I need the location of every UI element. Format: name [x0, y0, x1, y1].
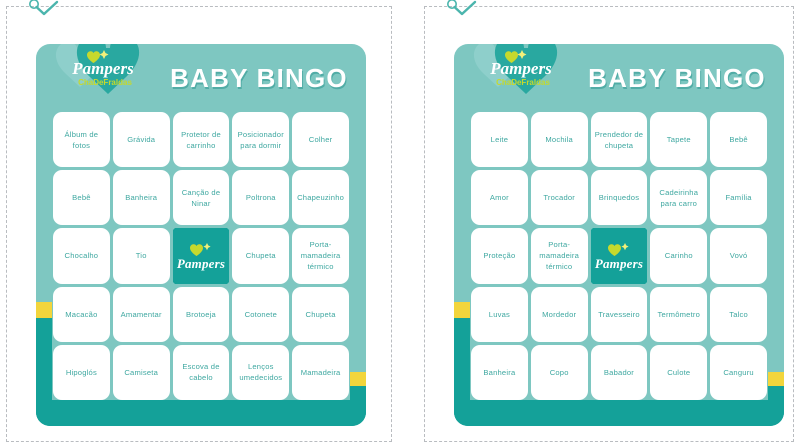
bingo-cell[interactable]: Porta-mamadeira térmico — [531, 228, 588, 283]
bingo-cell[interactable]: Cadeirinha para carro — [650, 170, 707, 225]
bingo-cell[interactable]: Chupeta — [232, 228, 289, 283]
card-header: Pampers ChaDeFraldas BABY BINGO — [454, 44, 784, 108]
bingo-cell[interactable]: Grávida — [113, 112, 170, 167]
bingo-cell[interactable]: Família — [710, 170, 767, 225]
pampers-logo: Pampers ChaDeFraldas — [48, 44, 156, 114]
card-bottom-band — [454, 400, 784, 426]
svg-text:ChaDeFraldas: ChaDeFraldas — [496, 78, 550, 87]
svg-text:Pampers: Pampers — [489, 59, 552, 78]
bingo-cell[interactable]: Canção de Ninar — [173, 170, 230, 225]
bingo-cell[interactable]: Banheira — [113, 170, 170, 225]
card-title: BABY BINGO — [578, 58, 776, 98]
card-header: Pampers ChaDeFraldas BABY BINGO — [36, 44, 366, 108]
bingo-cell[interactable]: Prendedor de chupeta — [591, 112, 648, 167]
bingo-cell[interactable]: Banheira — [471, 345, 528, 400]
card-right-band — [768, 382, 784, 426]
pampers-logo: Pampers ChaDeFraldas — [466, 44, 574, 114]
bingo-cell[interactable]: Mamadeira — [292, 345, 349, 400]
bingo-cell[interactable]: Babador — [591, 345, 648, 400]
bingo-grid: Leite Mochila Prendedor de chupeta Tapet… — [471, 112, 767, 400]
bingo-cell[interactable]: Travesseiro — [591, 287, 648, 342]
bingo-cell[interactable]: Leite — [471, 112, 528, 167]
bingo-cell[interactable]: Brinquedos — [591, 170, 648, 225]
svg-text:ChaDeFraldas: ChaDeFraldas — [78, 78, 132, 87]
bingo-cell[interactable]: Mordedor — [531, 287, 588, 342]
bingo-cell[interactable]: Álbum de fotos — [53, 112, 110, 167]
bingo-cell[interactable]: Posicionador para dormir — [232, 112, 289, 167]
card-title: BABY BINGO — [160, 58, 358, 98]
bingo-cell[interactable]: Colher — [292, 112, 349, 167]
bingo-cell[interactable]: Camiseta — [113, 345, 170, 400]
bingo-sheet: Pampers ChaDeFraldas BABY BINGO Álbum de… — [0, 0, 800, 448]
card-left-yellow-accent — [454, 302, 470, 318]
bingo-cell[interactable]: Protetor de carrinho — [173, 112, 230, 167]
bingo-cell[interactable]: Tio — [113, 228, 170, 283]
bingo-cell[interactable]: Escova de cabelo — [173, 345, 230, 400]
svg-text:Pampers: Pampers — [71, 59, 134, 78]
bingo-cell[interactable]: Proteção — [471, 228, 528, 283]
svg-text:Pampers: Pampers — [177, 256, 225, 271]
bingo-cell[interactable]: Copo — [531, 345, 588, 400]
bingo-cell[interactable]: Cotonete — [232, 287, 289, 342]
bingo-card-1: Pampers ChaDeFraldas BABY BINGO Álbum de… — [36, 44, 366, 426]
bingo-cell[interactable]: Bebê — [710, 112, 767, 167]
bingo-cell[interactable]: Chupeta — [292, 287, 349, 342]
bingo-cell[interactable]: Luvas — [471, 287, 528, 342]
bingo-free-cell[interactable]: Pampers — [591, 228, 648, 283]
bingo-cell[interactable]: Carinho — [650, 228, 707, 283]
card-right-band — [350, 382, 366, 426]
bingo-cell[interactable]: Tapete — [650, 112, 707, 167]
bingo-card-2: Pampers ChaDeFraldas BABY BINGO Leite Mo… — [454, 44, 784, 426]
card-left-band — [454, 306, 470, 426]
bingo-cell[interactable]: Amor — [471, 170, 528, 225]
card-left-band — [36, 306, 52, 426]
bingo-cell[interactable]: Canguru — [710, 345, 767, 400]
card-left-yellow-accent — [36, 302, 52, 318]
bingo-cell[interactable]: Lenços umedecidos — [232, 345, 289, 400]
bingo-cell[interactable]: Macacão — [53, 287, 110, 342]
card-bottom-band — [36, 400, 366, 426]
bingo-cell[interactable]: Porta-mamadeira térmico — [292, 228, 349, 283]
bingo-cell[interactable]: Chocalho — [53, 228, 110, 283]
bingo-grid: Álbum de fotos Grávida Protetor de carri… — [53, 112, 349, 400]
bingo-cell[interactable]: Talco — [710, 287, 767, 342]
card-right-yellow-accent — [350, 372, 366, 386]
bingo-cell[interactable]: Bebê — [53, 170, 110, 225]
bingo-cell[interactable]: Trocador — [531, 170, 588, 225]
svg-text:Pampers: Pampers — [595, 256, 643, 271]
bingo-cell[interactable]: Mochila — [531, 112, 588, 167]
bingo-free-cell[interactable]: Pampers — [173, 228, 230, 283]
card-right-yellow-accent — [768, 372, 784, 386]
bingo-cell[interactable]: Hipoglós — [53, 345, 110, 400]
bingo-cell[interactable]: Vovó — [710, 228, 767, 283]
bingo-cell[interactable]: Amamentar — [113, 287, 170, 342]
bingo-cell[interactable]: Poltrona — [232, 170, 289, 225]
bingo-cell[interactable]: Brotoeja — [173, 287, 230, 342]
bingo-cell[interactable]: Termômetro — [650, 287, 707, 342]
bingo-cell[interactable]: Culote — [650, 345, 707, 400]
bingo-cell[interactable]: Chapeuzinho — [292, 170, 349, 225]
